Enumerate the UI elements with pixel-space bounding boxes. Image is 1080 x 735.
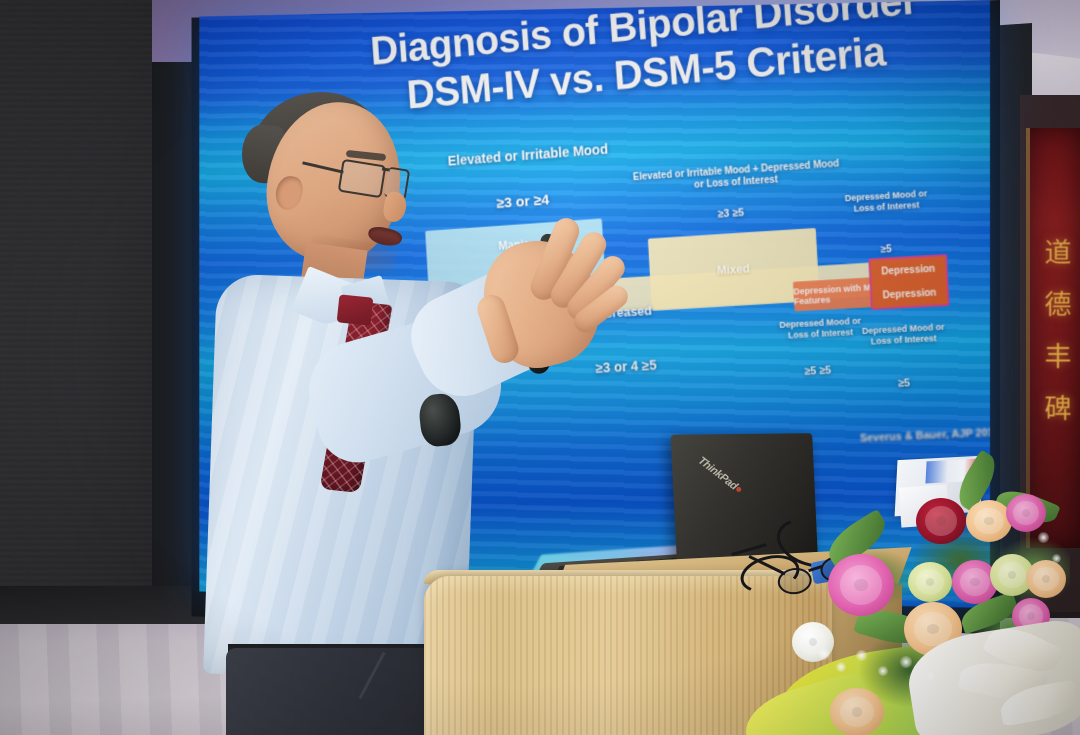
green-rose: [908, 562, 952, 602]
depression-label-lower: Depression: [882, 287, 936, 301]
peach-rose: [830, 688, 884, 735]
mixed-label: Mixed: [717, 262, 750, 278]
slide-title-line1: Diagnosis of Bipolar Disorder: [369, 0, 919, 73]
presentation-scene: 道 德 丰 碑 Diagnosis of Bipolar Disorder DS…: [0, 0, 1080, 735]
babys-breath: [818, 648, 830, 660]
slide-citation: Severus & Bauer, AJP 2017: [793, 427, 990, 448]
slide-footer-center: Depressed Mood or Loss of Interest: [774, 315, 867, 341]
criteria-top-right: ≥5: [852, 242, 921, 257]
babys-breath: [900, 656, 912, 668]
peach-rose: [966, 500, 1012, 542]
wall-left: [0, 0, 152, 640]
pink-carnation: [1006, 494, 1046, 532]
depression-mixed-label: Depression with Mixed Features: [793, 280, 921, 307]
babys-breath: [1038, 532, 1049, 543]
criteria-bottom-center: ≥5 ≥5: [779, 363, 857, 380]
banner-text: 道 德 丰 碑: [1042, 228, 1076, 436]
slide-box-depression: Depression Depression: [868, 254, 949, 310]
red-rose: [916, 498, 966, 544]
depression-label-upper: Depression: [881, 263, 935, 277]
slide-box-depression-mixed: Depression with Mixed Features: [793, 275, 921, 312]
slide-footer-right: Depressed Mood or Loss of Interest: [861, 322, 946, 348]
slide-header-right: Depressed Mood or Loss of Interest: [842, 188, 931, 215]
babys-breath: [926, 672, 935, 681]
eyeglasses-left-lens: [338, 159, 387, 198]
slide-box-mixed: Mixed: [648, 228, 820, 311]
babys-breath: [878, 666, 888, 676]
babys-breath: [856, 650, 867, 661]
necktie-knot: [337, 294, 374, 325]
babys-breath: [836, 662, 846, 672]
slide-header-center: Elevated or Irritable Mood + Depressed M…: [630, 158, 842, 195]
babys-breath: [1052, 554, 1061, 563]
pink-carnation: [828, 554, 894, 616]
flower-bouquet: [800, 450, 1080, 735]
criteria-top-center: ≥3 ≥5: [678, 204, 784, 222]
criteria-bottom-right: ≥5: [869, 376, 938, 391]
peach-rose: [1026, 560, 1066, 598]
